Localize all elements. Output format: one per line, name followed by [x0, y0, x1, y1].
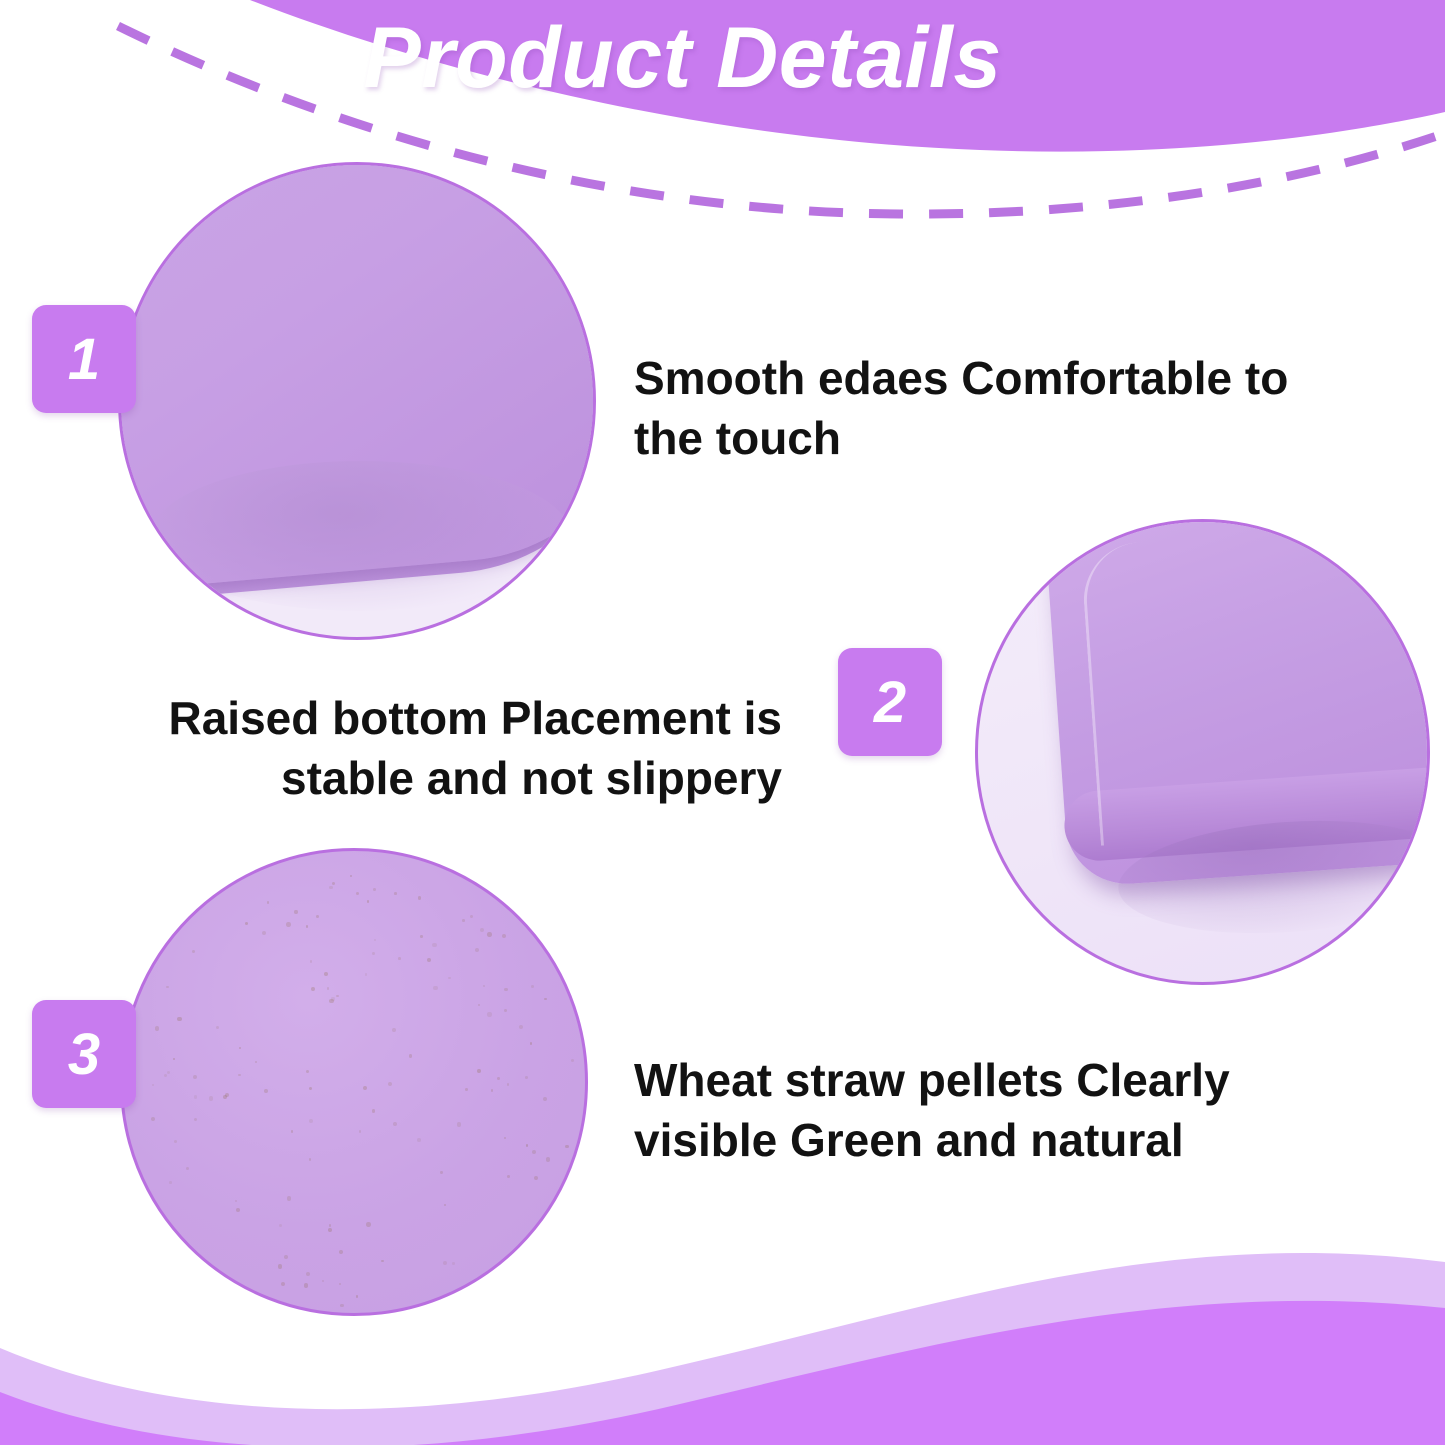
- feature-caption-3: Wheat straw pellets Clearly visible Gree…: [634, 1050, 1294, 1170]
- speck: [534, 1176, 538, 1180]
- speck: [167, 1071, 171, 1075]
- speck: [475, 948, 479, 952]
- speck: [174, 1140, 177, 1143]
- speck: [310, 960, 312, 962]
- speck: [316, 915, 319, 918]
- speck: [193, 1075, 197, 1079]
- speck: [336, 995, 338, 997]
- speck: [427, 958, 431, 962]
- speck: [367, 900, 369, 902]
- speck: [374, 939, 376, 941]
- speck: [507, 1175, 510, 1178]
- speck: [544, 998, 547, 1001]
- speck: [497, 1077, 500, 1080]
- speck: [359, 1130, 361, 1132]
- speck: [350, 875, 352, 877]
- speck: [487, 932, 492, 937]
- speck: [164, 1074, 167, 1077]
- speck: [373, 888, 376, 891]
- bottom-wave-light: [0, 1253, 1445, 1445]
- speck: [504, 988, 508, 992]
- speck: [311, 987, 315, 991]
- speck: [281, 1282, 285, 1286]
- speck: [216, 1026, 219, 1029]
- speck: [571, 1059, 574, 1062]
- speck: [417, 1138, 421, 1142]
- speck: [309, 1087, 312, 1090]
- speck: [245, 922, 248, 925]
- speck: [278, 1264, 282, 1268]
- feature-caption-2: Raised bottom Placement is stable and no…: [92, 688, 782, 808]
- speck: [462, 919, 465, 922]
- speck: [480, 928, 484, 932]
- speck: [526, 1144, 528, 1146]
- bottom-wave-bright: [0, 1301, 1445, 1445]
- speck: [287, 1196, 292, 1201]
- speck: [465, 1088, 468, 1091]
- speck: [339, 1250, 343, 1254]
- speck: [209, 1096, 213, 1100]
- speck: [267, 901, 269, 903]
- speck: [448, 977, 450, 979]
- speck: [236, 1208, 240, 1212]
- speck: [322, 1280, 324, 1282]
- speck: [504, 1137, 506, 1139]
- speck: [284, 1255, 288, 1259]
- speck: [507, 1083, 510, 1086]
- speck: [332, 882, 335, 885]
- speck: [477, 1069, 481, 1073]
- speck: [329, 1224, 331, 1226]
- speck: [365, 973, 368, 976]
- page-title: Product Details: [0, 8, 1445, 108]
- speck: [519, 1025, 523, 1029]
- speck: [483, 985, 485, 987]
- speck: [443, 1261, 447, 1265]
- speck: [309, 1158, 311, 1160]
- speck: [255, 1061, 257, 1063]
- speck: [262, 931, 266, 935]
- speck: [363, 1086, 367, 1090]
- speck: [235, 1200, 237, 1202]
- speck: [223, 1095, 227, 1099]
- speck: [286, 922, 290, 926]
- speck: [328, 1228, 332, 1232]
- speck: [478, 1004, 480, 1006]
- speck: [487, 1012, 491, 1016]
- speck: [306, 925, 308, 927]
- speck: [372, 952, 375, 955]
- speck: [420, 935, 422, 937]
- speck: [457, 1122, 461, 1126]
- speck: [381, 1260, 383, 1262]
- speck: [491, 1089, 493, 1091]
- speck: [356, 892, 359, 895]
- speck: [169, 1181, 172, 1184]
- speck: [327, 987, 329, 989]
- speck: [264, 1089, 268, 1093]
- speck: [504, 1009, 507, 1012]
- feature-badge-1: 1: [32, 305, 136, 413]
- speck: [340, 1304, 344, 1308]
- speck: [444, 1204, 446, 1206]
- speck: [173, 1058, 175, 1060]
- feature-image-1: [118, 162, 596, 640]
- speck: [186, 1167, 189, 1170]
- speck: [194, 1118, 197, 1121]
- speck: [565, 1145, 568, 1148]
- feature-badge-3: 3: [32, 1000, 136, 1108]
- speck: [470, 915, 473, 918]
- speck: [294, 910, 297, 913]
- speck: [393, 1122, 397, 1126]
- speck: [238, 1074, 240, 1076]
- speck: [331, 997, 334, 1000]
- product-details-infographic: Product Details 1 Smooth edaes Comfortab…: [0, 0, 1445, 1445]
- speck: [304, 1283, 308, 1287]
- speck: [279, 1224, 282, 1227]
- speck: [372, 1109, 376, 1113]
- speck: [151, 1117, 155, 1121]
- speck: [398, 957, 401, 960]
- speck: [530, 1042, 533, 1045]
- speck: [177, 1017, 182, 1022]
- feature-image-3: [120, 848, 588, 1316]
- speck: [306, 1272, 310, 1276]
- speck: [394, 892, 397, 895]
- speck: [306, 1070, 309, 1073]
- speck: [532, 1150, 536, 1154]
- speck: [194, 1095, 197, 1098]
- speck: [440, 1171, 442, 1173]
- speck: [356, 1295, 359, 1298]
- feature-badge-2: 2: [838, 648, 942, 756]
- lid-shadow-detail: [151, 461, 571, 611]
- speck: [329, 886, 332, 889]
- speck: [531, 985, 534, 988]
- speck: [291, 1130, 294, 1133]
- feature-caption-1: Smooth edaes Comfortable to the touch: [634, 348, 1294, 468]
- speck: [324, 972, 328, 976]
- speck: [433, 986, 437, 990]
- speck: [166, 986, 169, 989]
- speck: [152, 1084, 154, 1086]
- speck: [543, 1097, 547, 1101]
- speck: [155, 1026, 159, 1030]
- speck: [239, 1047, 241, 1049]
- speck: [409, 1054, 413, 1058]
- speck: [452, 1262, 455, 1265]
- speck: [546, 1157, 550, 1161]
- speck: [502, 934, 506, 938]
- speck: [388, 1082, 392, 1086]
- speck: [418, 896, 421, 899]
- container-groove-detail: [1080, 519, 1430, 846]
- speck: [192, 950, 195, 953]
- speck: [366, 1222, 371, 1227]
- feature-image-2: [975, 519, 1430, 985]
- speck: [525, 1076, 528, 1079]
- speck: [309, 1119, 313, 1123]
- speck: [392, 1028, 396, 1032]
- speck: [339, 1283, 341, 1285]
- speck: [432, 943, 436, 947]
